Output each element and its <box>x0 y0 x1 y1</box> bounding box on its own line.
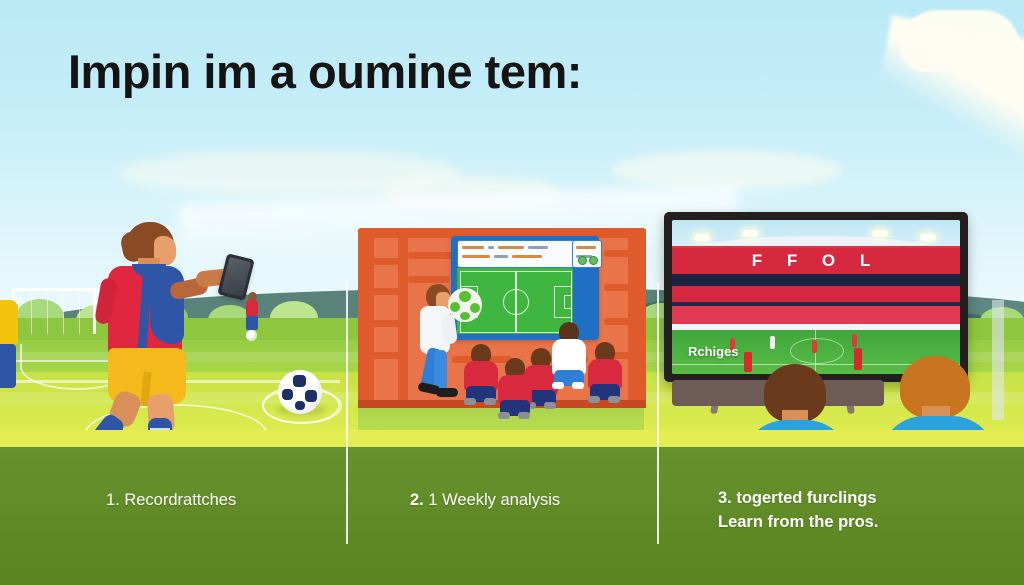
caption-number: 2. <box>410 491 424 509</box>
board-note-secondary <box>572 240 602 268</box>
seated-player <box>498 358 532 420</box>
caption-record-matches: 1. Recordrattches <box>106 488 236 512</box>
seated-player <box>464 344 498 406</box>
shelf-plank <box>604 284 630 291</box>
seated-player-white <box>552 322 586 396</box>
goal-net <box>12 288 96 334</box>
sideline-person <box>0 300 20 410</box>
green-soccer-ball-icon <box>448 288 482 322</box>
caption-line-1: 3. togerted furclings <box>718 486 878 510</box>
board-note-primary <box>457 240 575 268</box>
tv-overlay-text: Rchiges <box>688 344 739 359</box>
caption-learn-from-pros: 3. togerted furclings Learn from the pro… <box>718 486 878 534</box>
shelf-plank <box>604 250 630 257</box>
fence-post <box>992 300 1004 420</box>
panel-divider <box>657 282 659 544</box>
board-dot-icon <box>578 256 587 265</box>
caption-text: 1 Weekly analysis <box>428 491 560 509</box>
tv-screen: F F O L Rchiges <box>672 220 960 374</box>
page-title: Impin im a oumine tem: <box>68 44 582 99</box>
cloud-icon <box>612 150 842 190</box>
shelf-plank <box>604 318 630 325</box>
shelf-plank <box>368 258 400 265</box>
shelf-plank <box>368 288 400 295</box>
shelf-plank <box>368 320 400 327</box>
illustration-canvas: F F O L Rchiges I <box>0 0 1024 585</box>
caption-weekly-analysis: 2. 1 Weekly analysis <box>410 488 560 512</box>
stadium-banner-text: F F O L <box>672 248 960 274</box>
panel-divider <box>346 282 348 544</box>
seated-player <box>588 342 622 404</box>
board-dot-icon <box>589 256 598 265</box>
caption-line-2: Learn from the pros. <box>718 510 878 534</box>
soccer-ball-icon <box>278 370 322 414</box>
shelf-plank <box>408 276 450 283</box>
shelf-side-left <box>358 228 374 408</box>
shelf-plank <box>368 352 400 359</box>
shelf-side-right <box>628 228 646 408</box>
